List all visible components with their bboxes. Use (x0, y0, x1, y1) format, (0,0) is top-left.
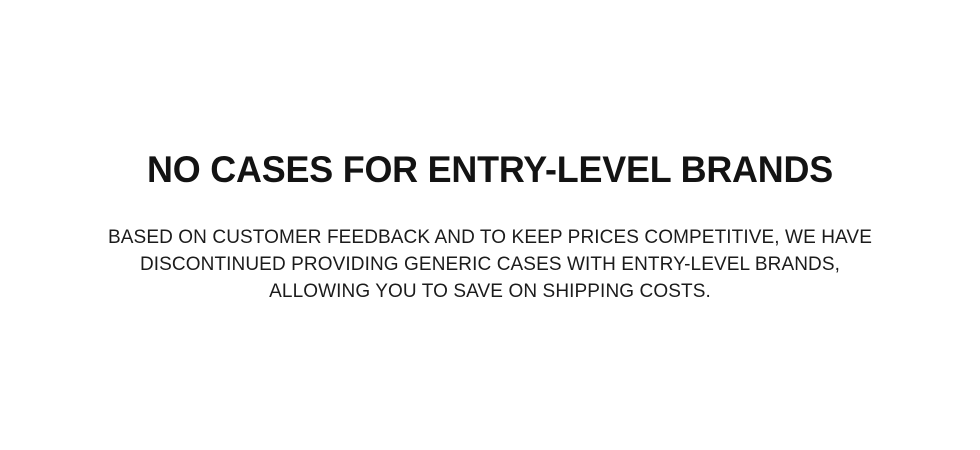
page-title: NO CASES FOR ENTRY-LEVEL BRANDS (54, 148, 927, 192)
promo-description: BASED ON CUSTOMER FEEDBACK AND TO KEEP P… (90, 224, 890, 305)
promo-banner: NO CASES FOR ENTRY-LEVEL BRANDS BASED ON… (0, 0, 980, 450)
